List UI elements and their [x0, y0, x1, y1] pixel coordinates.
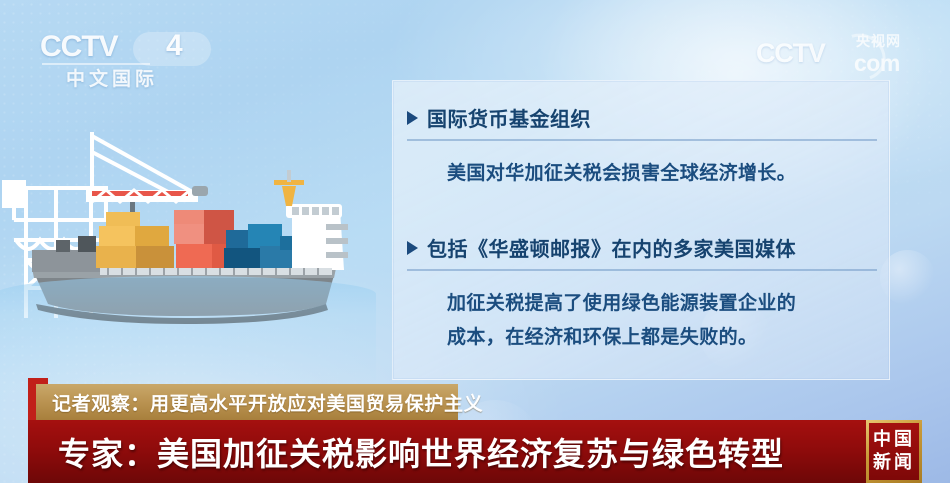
quote-source-title: 包括《华盛顿邮报》在内的多家美国媒体: [427, 233, 796, 262]
deck-rail: [100, 268, 332, 275]
program-badge: 中国 新闻: [866, 420, 922, 483]
ship-funnel: [282, 186, 296, 206]
channel-logo-number: 4: [166, 29, 183, 63]
subtitle-bar: 记者观察：用更高水平开放应对美国贸易保护主义: [36, 384, 458, 420]
quote-line: 成本，在经济和环保上都是失败的。: [447, 320, 875, 354]
program-badge-inner: 中国 新闻: [869, 423, 919, 480]
container-ship-illustration: [0, 128, 376, 378]
channel-logo-text: CCTV: [40, 30, 118, 64]
quote-block-imf: 国际货币基金组织 美国对华加征关税会损害全球经济增长。: [393, 103, 889, 190]
headline-bar: 专家：美国加征关税影响世界经济复苏与绿色转型: [28, 420, 866, 483]
crane-cabin: [2, 180, 26, 208]
quote-line: 美国对华加征关税会损害全球经济增长。: [447, 156, 875, 190]
quote-heading-row: 包括《华盛顿邮报》在内的多家美国媒体: [407, 233, 877, 271]
watermark-brand: CCTV: [756, 38, 825, 69]
broadcast-screen: CCTV 4 中文国际 CCTV 央视网 com: [0, 0, 950, 483]
program-name-line2: 新闻: [873, 452, 915, 474]
program-name-line1: 中国: [873, 429, 915, 451]
quote-line: 加征关税提高了使用绿色能源装置企业的: [447, 286, 875, 320]
cctv-com-watermark: CCTV 央视网 com: [756, 28, 928, 78]
containers-yellow: [96, 212, 174, 268]
quote-body: 美国对华加征关税会损害全球经济增长。: [447, 156, 875, 190]
headline-text: 专家：美国加征关税影响世界经济复苏与绿色转型: [58, 429, 784, 475]
triangle-bullet-icon: [407, 111, 418, 125]
channel-logo-subtitle: 中文国际: [66, 64, 158, 91]
quote-panel: 国际货币基金组织 美国对华加征关税会损害全球经济增长。 包括《华盛顿邮报》在内的…: [392, 80, 890, 380]
quote-heading-row: 国际货币基金组织: [407, 103, 877, 141]
quote-source-title: 国际货币基金组织: [427, 103, 591, 132]
watermark-chinese: 央视网: [856, 31, 901, 51]
triangle-bullet-icon: [407, 241, 418, 255]
quote-block-us-media: 包括《华盛顿邮报》在内的多家美国媒体 加征关税提高了使用绿色能源装置企业的 成本…: [393, 233, 889, 354]
watermark-domain: com: [854, 50, 900, 77]
quote-body: 加征关税提高了使用绿色能源装置企业的 成本，在经济和环保上都是失败的。: [447, 286, 875, 354]
containers-blue: [224, 224, 302, 270]
subtitle-text: 记者观察：用更高水平开放应对美国贸易保护主义: [52, 389, 483, 416]
sea-water: [0, 276, 376, 386]
cctv4-channel-logo: CCTV 4 中文国际: [40, 30, 220, 88]
